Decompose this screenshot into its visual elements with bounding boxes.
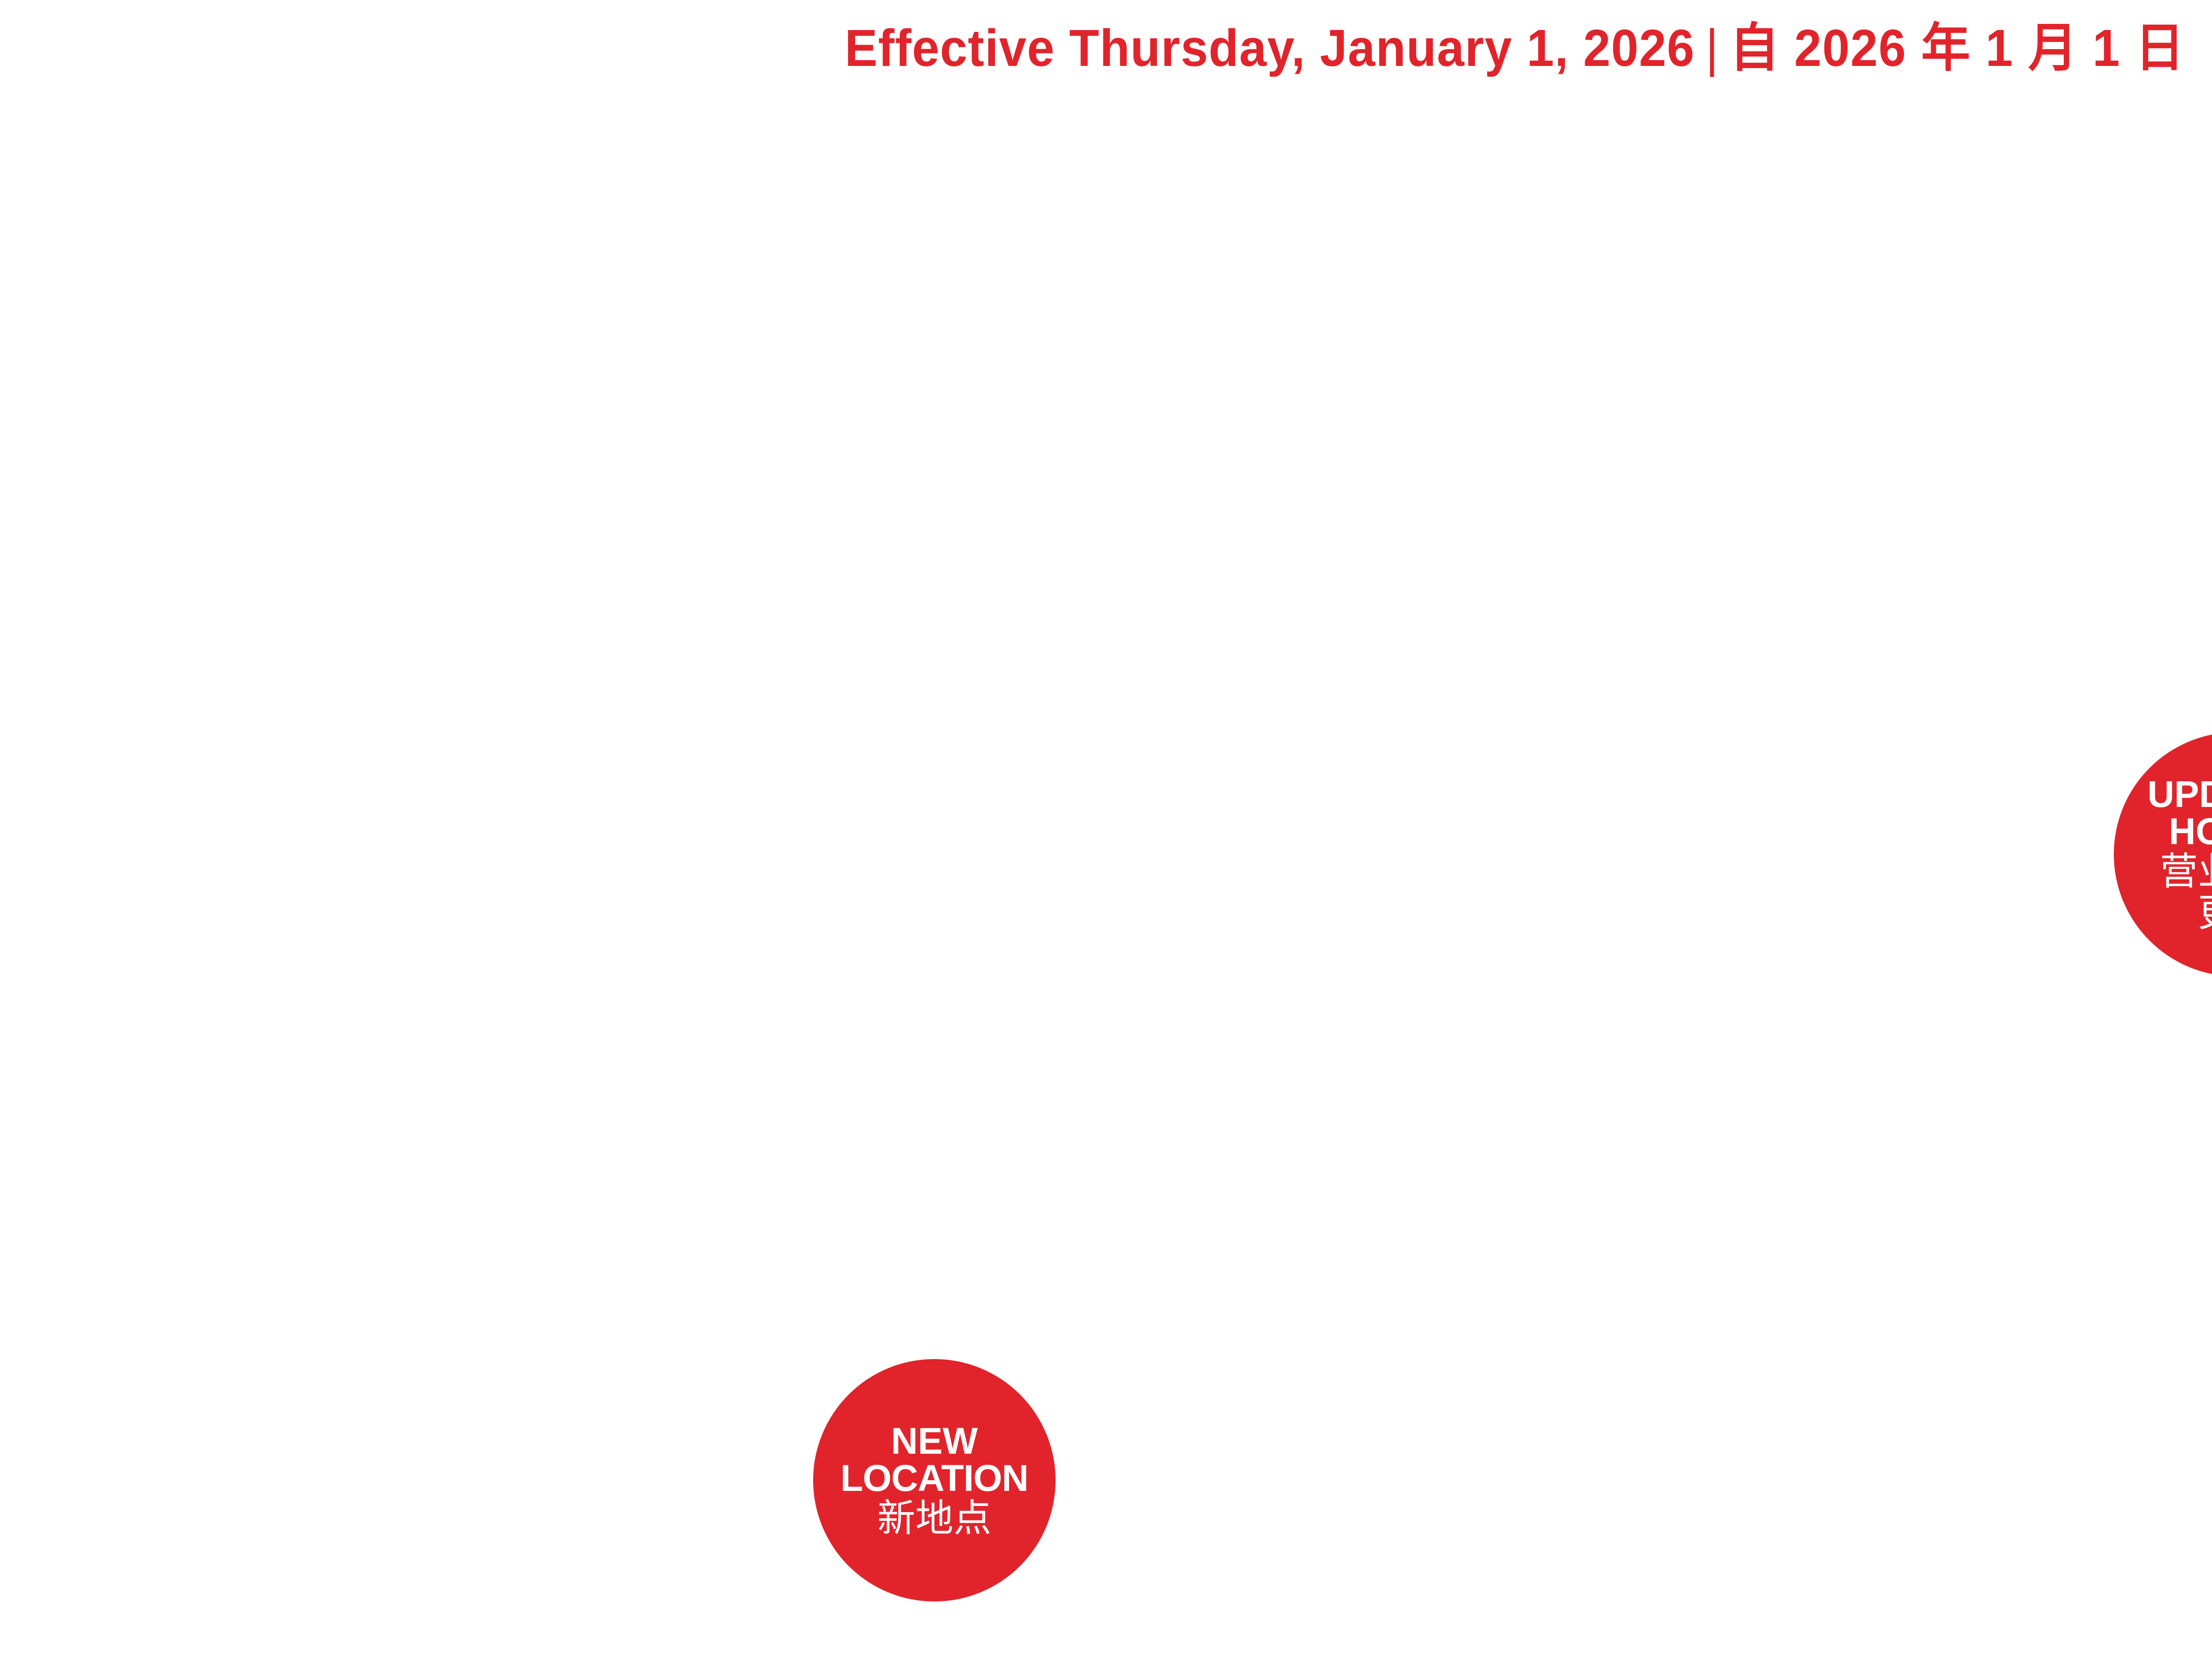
effective-date-text: Effective Thursday, January 1, 2026|自 20… — [845, 21, 2212, 76]
badge-new-location-en-line-1: NEW — [891, 1422, 978, 1459]
badge-updated-hours-en-line-2: HOURS — [2169, 813, 2212, 850]
badge-updated-hours-zh-line-1: 营业时间 — [2160, 852, 2212, 891]
badge-new-location[interactable]: NEW LOCATION 新地点 — [813, 1359, 1056, 1601]
badge-new-location-en-line-2: LOCATION — [841, 1459, 1028, 1497]
effective-date-separator: | — [1695, 21, 1730, 76]
badge-updated-hours-zh-line-2: 更新 — [2198, 893, 2212, 933]
effective-date-chinese: 自 2026 年 1 月 1 日（星期四）起生效 — [1730, 19, 2212, 77]
badge-new-location-zh-line-1: 新地点 — [877, 1498, 991, 1538]
badge-updated-hours-en-line-1: UPDATED — [2147, 776, 2212, 813]
page-canvas: Effective Thursday, January 1, 2026|自 20… — [0, 0, 2212, 1659]
effective-date-banner: Effective Thursday, January 1, 2026|自 20… — [0, 21, 2212, 76]
effective-date-english: Effective Thursday, January 1, 2026 — [845, 19, 1695, 77]
badge-updated-hours[interactable]: UPDATED HOURS 营业时间 更新 — [2114, 732, 2212, 976]
